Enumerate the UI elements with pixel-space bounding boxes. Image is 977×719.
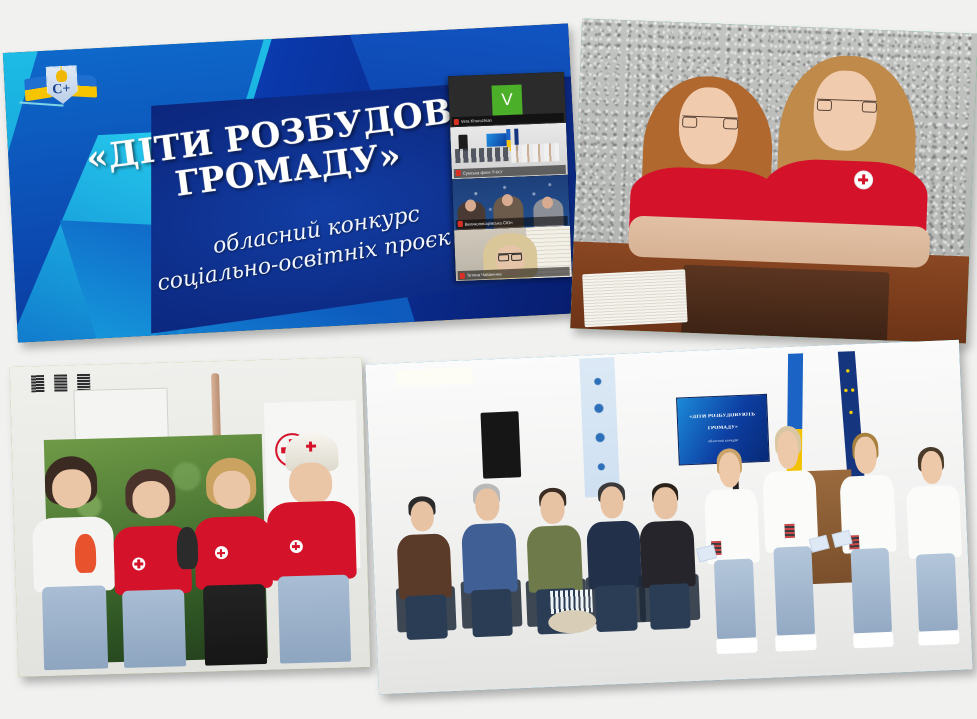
red-cross-icon xyxy=(854,170,874,190)
jeans xyxy=(714,558,756,641)
face xyxy=(475,488,500,522)
church-dome-icon xyxy=(56,70,68,83)
person-presenter xyxy=(904,445,966,645)
person-seated xyxy=(638,486,697,630)
open-book xyxy=(582,269,687,327)
clothing xyxy=(640,520,696,587)
microphone-icon xyxy=(454,119,459,125)
microphone-icon xyxy=(460,272,465,278)
photo-card-conference[interactable]: «ДІТИ РОЗБУДОВУЮТЬ ГРОМАДУ» обласний кон… xyxy=(365,340,972,695)
jeans xyxy=(42,586,109,670)
face xyxy=(51,469,91,509)
clothing xyxy=(461,523,517,593)
jeans xyxy=(916,553,958,634)
face xyxy=(920,450,943,485)
hall-screen xyxy=(486,133,506,147)
screen-title-line2: ГРОМАДУ» xyxy=(685,424,760,432)
face xyxy=(599,486,624,519)
face xyxy=(212,470,250,509)
clothing xyxy=(396,533,452,599)
screen-subtitle: обласний конкурс xyxy=(686,438,761,445)
photo-image-conference: «ДІТИ РОЗБУДОВУЮТЬ ГРОМАДУ» обласний кон… xyxy=(365,340,972,695)
vent-icon xyxy=(54,375,67,392)
person-volunteer xyxy=(192,453,275,666)
person-presenter xyxy=(702,447,764,654)
wall-ornament xyxy=(579,357,620,497)
vent-icon xyxy=(31,375,44,392)
face xyxy=(540,492,565,524)
face xyxy=(718,452,741,488)
zoom-tile[interactable]: Сумська філія ТЧХУ xyxy=(450,123,568,179)
embroidered-shirt xyxy=(906,485,962,558)
jeans xyxy=(122,589,186,667)
shoes xyxy=(716,638,757,654)
white-tshirt xyxy=(32,516,115,592)
jeans xyxy=(278,574,351,663)
glasses-icon xyxy=(498,253,522,260)
person-volunteer xyxy=(265,432,359,664)
photo-image-volunteers xyxy=(10,357,371,677)
photo-image-girls xyxy=(570,19,977,344)
microphone-icon xyxy=(456,170,461,176)
red-cross-icon xyxy=(289,540,302,553)
face xyxy=(653,487,678,519)
face xyxy=(289,462,332,504)
hand-puppet xyxy=(177,527,198,570)
legs xyxy=(649,583,692,630)
person-seated xyxy=(585,485,644,632)
microphone-icon xyxy=(458,221,463,227)
coat-of-arms-icon: С+ xyxy=(23,60,98,124)
participant-name: Великописарівська СЮн xyxy=(465,218,513,229)
clothing xyxy=(586,520,642,589)
face xyxy=(465,199,476,211)
photo-card-volunteers[interactable] xyxy=(10,357,371,677)
red-polo xyxy=(194,516,273,590)
shoes xyxy=(853,631,894,648)
zoom-tile[interactable]: V Vera Khorozhian xyxy=(448,72,566,128)
face xyxy=(502,194,513,206)
clothing xyxy=(527,525,583,592)
standing-presenters xyxy=(511,143,560,163)
avatar: V xyxy=(491,84,522,115)
participant-name: Сумська філія ТЧХУ xyxy=(463,167,503,178)
photo-card-girls[interactable] xyxy=(570,19,977,344)
legs xyxy=(595,584,638,632)
ceiling-light xyxy=(395,367,473,387)
seated-audience xyxy=(455,147,510,163)
face xyxy=(132,481,170,518)
face xyxy=(542,196,553,208)
jeans xyxy=(850,548,892,635)
speaker-icon xyxy=(480,411,521,479)
zoom-meeting-panel[interactable]: V Vera Khorozhian Сумська філія ТЧХУ xyxy=(448,72,572,281)
person-seated xyxy=(395,500,454,641)
red-polo xyxy=(267,501,357,581)
person-volunteer xyxy=(30,451,117,670)
screen-title-line1: «ДІТИ РОЗБУДОВУЮТЬ xyxy=(685,412,760,420)
person-presenter xyxy=(760,425,823,651)
legs xyxy=(470,588,513,637)
shield-icon: С+ xyxy=(46,65,79,105)
shoes xyxy=(918,630,959,646)
black-trousers xyxy=(203,584,267,666)
embroidery-pattern xyxy=(785,524,796,538)
zoom-tile[interactable]: Великописарівська СЮн xyxy=(452,174,570,230)
face xyxy=(854,437,877,474)
participant-name: Тетяна Чабаненко xyxy=(467,269,503,279)
legs xyxy=(405,594,447,640)
shoes xyxy=(775,634,816,651)
participant-name: Vera Khorozhian xyxy=(461,116,492,126)
laptop xyxy=(681,264,889,340)
emblem-glyph: С+ xyxy=(52,83,71,98)
jeans xyxy=(773,546,815,637)
person-seated xyxy=(460,487,520,638)
red-cross-icon xyxy=(306,441,316,451)
person-presenter xyxy=(838,432,900,649)
face xyxy=(410,500,435,531)
collage-canvas: С+ «ДІТИ РОЗБУДОВУ ГРОМАДУ» обласний кон… xyxy=(0,0,977,719)
hand-puppet xyxy=(74,534,96,574)
zoom-tile[interactable]: Тетяна Чабаненко xyxy=(454,225,572,281)
